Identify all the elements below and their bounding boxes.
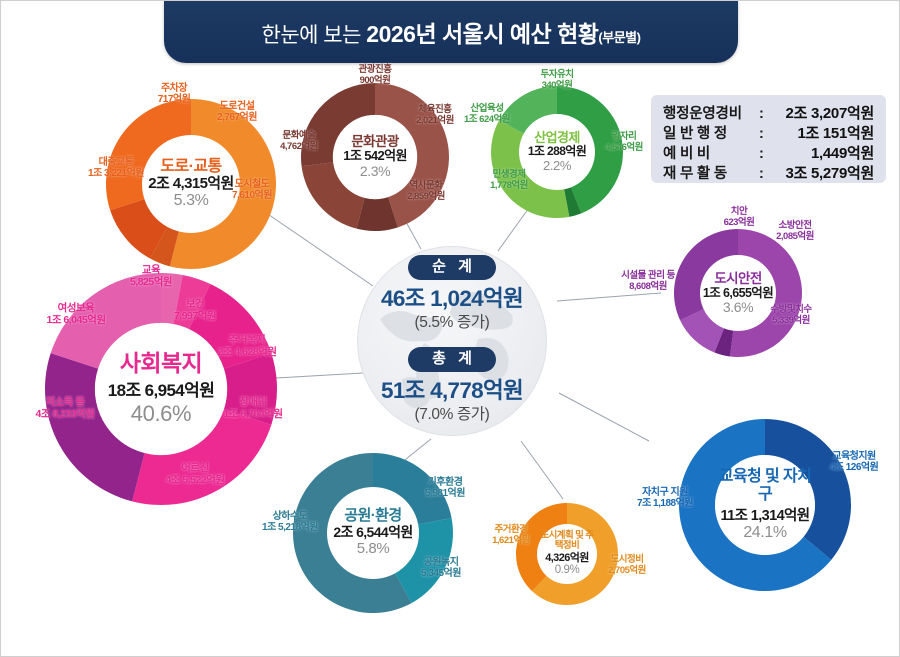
donut-education-district: 교육청 및 자치구 11조 1,314억원 24.1% 교육청지원 4조 126… (679, 419, 851, 591)
hub-title: 교육청 및 자치구 (715, 468, 815, 505)
seg-label-urban-0: 도시정비 2,705억원 (590, 555, 664, 576)
seg-label-culture-1: 관광진흥 900억원 (335, 65, 415, 86)
seg-label-edu-1: 자치구 지원 7조 1,188억원 (617, 487, 713, 509)
infographic-page: 한눈에 보는 2026년 서울시 예산 현황(부문별) 행정운영경비 : 2조 … (0, 0, 900, 657)
donut-social-welfare: 사회복지 18조 6,954억원 40.6% 교육 5,825억원 보건 7,9… (45, 273, 277, 505)
seg-label-welfare-0: 교육 5,825억원 (111, 265, 191, 289)
hub-amount: 4,326억원 (545, 552, 589, 564)
seg-label-welfare-1: 보건 7,997억원 (155, 299, 235, 323)
seg-label-industry-1: 두자유치 340억원 (521, 70, 593, 91)
seg-label-urban-1: 주거환경 1,621억원 (474, 525, 548, 546)
seg-label-welfare-4: 어르신 4조 5,522억원 (143, 463, 247, 487)
hub-title: 사회복지 (120, 351, 202, 377)
hub-amount: 2조 6,544억원 (333, 525, 412, 541)
hub-amount: 11조 1,314억원 (720, 508, 809, 524)
hub-percent: 5.3% (174, 192, 209, 210)
seg-label-culture-3: 역사문화 2,859억원 (383, 181, 469, 202)
seg-label-safety-2: 소방안전 2,085억원 (756, 221, 834, 242)
hub-title: 산업경제 (534, 131, 579, 146)
hub-amount: 18조 6,954억원 (108, 381, 215, 400)
donut-urban-plan: 도시계획 및 주택정비 4,326억원 0.9% 도시정비 2,705억원 주거… (516, 503, 618, 605)
seg-label-safety-0: 시설물 관리 등 8,608억원 (596, 271, 700, 292)
seg-label-welfare-3: 장애인 1조 8,704억원 (203, 397, 303, 421)
seg-label-edu-0: 교육청지원 4조 126억원 (809, 451, 899, 473)
hub-amount: 1조 6,655억원 (703, 286, 773, 300)
grand-total-amount: 51조 4,778억원 (381, 378, 523, 404)
seg-label-culture-0: 문화예술 4,762억원 (257, 131, 341, 152)
net-total-change: (5.5% 증가) (415, 314, 490, 333)
connector-urban-plan (521, 441, 563, 499)
hub-title: 도로·교통 (160, 158, 221, 176)
hub-title: 공원·환경 (344, 508, 401, 525)
grand-total-change: (7.0% 증가) (415, 406, 490, 425)
seg-label-industry-2: 산업육성 1조 624억원 (447, 104, 527, 125)
hub-amount: 1조 288억원 (528, 145, 586, 158)
grand-total-pill: 총 계 (408, 347, 496, 372)
hub-percent: 0.9% (555, 564, 580, 577)
donut-culture-tourism: 문화관광 1조 542억원 2.3% 문화예술 4,762억원 관광진흥 900… (301, 83, 449, 231)
donut-park-environment: 공원·환경 2조 6,544억원 5.8% 기후환경 5,981억원 공원녹지 … (293, 453, 453, 613)
hub-percent: 3.6% (723, 300, 753, 316)
hub-amount: 1조 542억원 (343, 149, 407, 164)
seg-label-welfare-6: 여성보육 1조 6,045억원 (21, 303, 131, 327)
hub-percent: 5.8% (357, 541, 390, 558)
seg-label-welfare-5: 저소득 등 4조 8,233억원 (13, 397, 117, 421)
seg-label-safety-3: 수방및치수 5,339억원 (750, 305, 832, 326)
seg-label-road-0: 대중교통 1조 3,221억원 (68, 157, 164, 179)
seg-label-park-2: 상하수도 1조 5,218억원 (243, 511, 337, 533)
seg-label-park-0: 기후환경 5,981억원 (405, 477, 485, 499)
seg-label-industry-0: 일자리 4,546억원 (587, 132, 661, 153)
seg-label-welfare-2: 주거복지 2조 4,628억원 (195, 335, 299, 359)
hub-education-district: 교육청 및 자치구 11조 1,314억원 24.1% (715, 455, 815, 555)
seg-label-industry-3: 민생경제 1,778억원 (469, 170, 549, 191)
donut-road-traffic: 도로·교통 2조 4,315억원 5.3% 대중교통 1조 3,221억원 주차… (106, 99, 276, 269)
hub-title: 도시안전 (714, 271, 761, 286)
hub-percent: 24.1% (743, 524, 786, 542)
hub-percent: 40.6% (131, 402, 191, 427)
connector-city-safety (557, 293, 661, 301)
connector-education-district (559, 393, 649, 441)
seg-label-road-3: 도시철도 7,610억원 (210, 179, 294, 201)
net-total-pill: 순 계 (408, 255, 496, 280)
center-summary: 순 계 46조 1,024억원 (5.5% 증가) 총 계 51조 4,778억… (353, 253, 551, 433)
net-total-amount: 46조 1,024억원 (381, 286, 523, 312)
seg-label-park-1: 공원녹지 5,345억원 (401, 557, 481, 579)
hub-percent: 2.3% (360, 164, 390, 180)
hub-title: 문화관광 (351, 134, 398, 149)
donut-city-safety: 도시안전 1조 6,655억원 3.6% 시설물 관리 등 8,608억원 치안… (674, 229, 802, 357)
donut-industry-economy: 산업경제 1조 288억원 2.2% 일자리 4,546억원 두자유치 340억… (491, 86, 623, 218)
seg-label-road-2: 도로건설 2,767억원 (194, 101, 280, 123)
